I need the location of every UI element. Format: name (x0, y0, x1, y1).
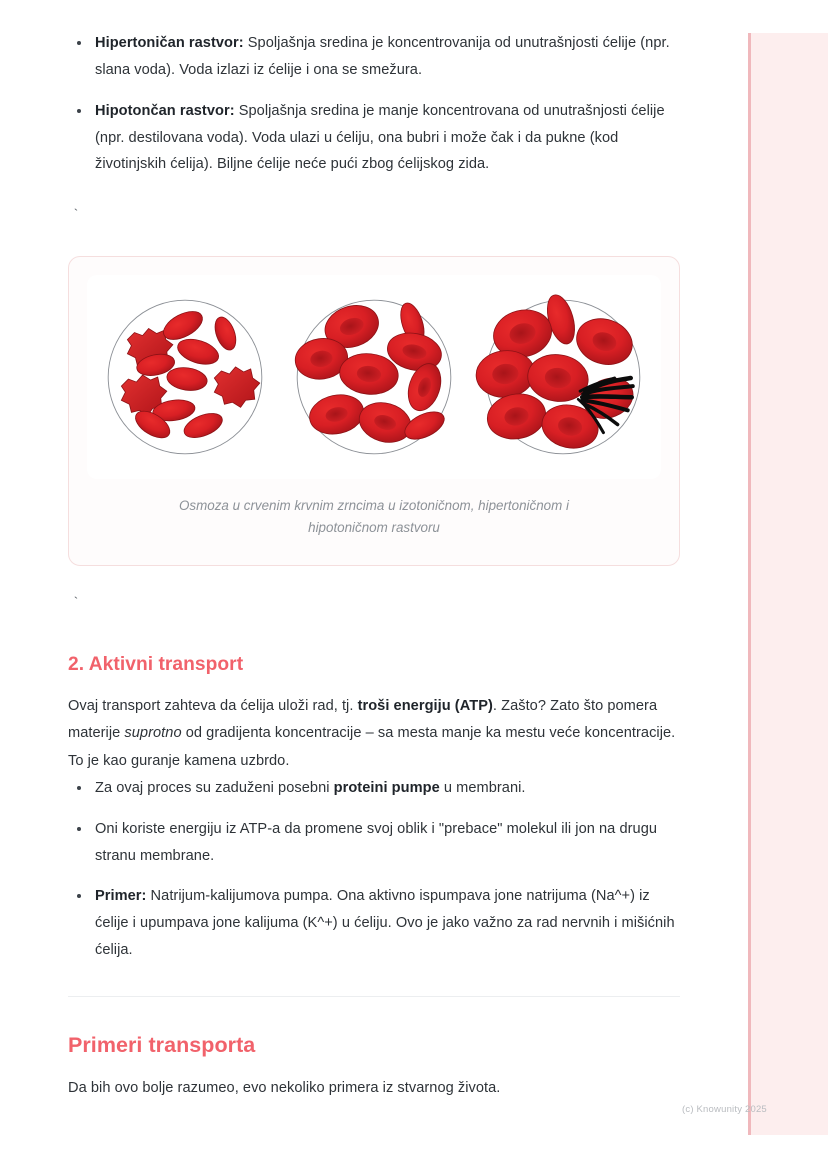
osmosis-solution-list: Hipertoničan rastvor: Spoljašnja sredina… (68, 30, 680, 178)
bullet-pre: Oni koriste energiju iz ATP-a da promene… (95, 821, 657, 864)
list-item: Hipertoničan rastvor: Spoljašnja sredina… (68, 30, 680, 84)
panel-hypertonic (108, 300, 262, 454)
list-item: Za ovaj proces su zaduženi posebni prote… (68, 775, 680, 802)
bullet-pre: Za ovaj proces su zaduženi posebni (95, 780, 334, 796)
para-bold-atp: troši energiju (ATP) (358, 698, 493, 714)
panel-isotonic (293, 299, 451, 454)
active-transport-bullet-list: Za ovaj proces su zaduženi posebni prote… (68, 775, 680, 964)
bullet-post: u membrani. (440, 780, 526, 796)
bullet-bold: proteini pumpe (334, 780, 440, 796)
list-item: Primer: Natrijum-kalijumova pumpa. Ona a… (68, 883, 680, 964)
stray-backtick-marker-2: ` (72, 596, 680, 610)
list-item: Hipotončan rastvor: Spoljašnja sredina j… (68, 98, 680, 179)
examples-intro-paragraph: Da bih ovo bolje razumeo, evo nekoliko p… (68, 1075, 680, 1102)
figure-card: Osmoza u crvenim krvnim zrncima u izoton… (68, 256, 680, 565)
section-heading-active-transport: 2. Aktivni transport (68, 610, 680, 676)
bullet-post: Natrijum-kalijumova pumpa. Ona aktivno i… (95, 888, 675, 958)
red-blood-cells-osmosis-diagram (91, 281, 657, 473)
right-pink-rail (748, 33, 828, 1135)
section-heading-examples: Primeri transporta (68, 997, 680, 1058)
term-label: Hipotončan rastvor: (95, 103, 235, 119)
bullet-bold: Primer: (95, 888, 146, 904)
figure-illustration (87, 275, 661, 479)
panel-hypotonic (474, 292, 640, 454)
copyright-watermark: (c) Knowunity 2025 (682, 1104, 767, 1115)
term-label: Hipertoničan rastvor: (95, 35, 244, 51)
active-transport-paragraph: Ovaj transport zahteva da ćelija uloži r… (68, 693, 680, 775)
figure-caption: Osmoza u crvenim krvnim zrncima u izoton… (144, 495, 604, 538)
para-italic-suprotno: suprotno (124, 725, 181, 741)
para-part-1: Ovaj transport zahteva da ćelija uloži r… (68, 698, 358, 714)
document-page: Hipertoničan rastvor: Spoljašnja sredina… (0, 0, 748, 1102)
stray-backtick-marker-1: ` (72, 208, 680, 222)
list-item: Oni koriste energiju iz ATP-a da promene… (68, 816, 680, 870)
